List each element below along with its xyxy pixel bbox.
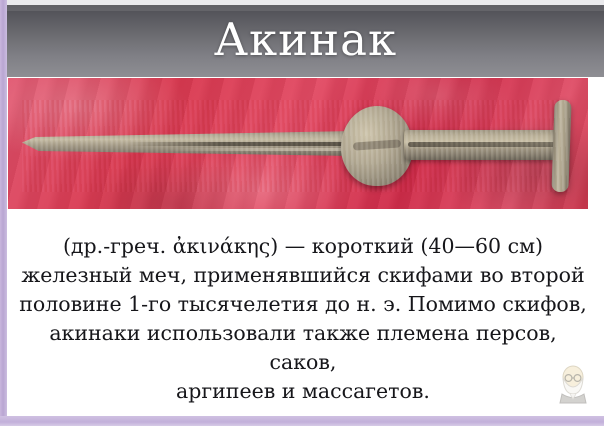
description-line-1: (др.-греч. ἀκινάκης) — короткий (40—60 с… [15, 232, 591, 261]
description-line-4: акинаки использовали также племена персо… [15, 319, 591, 377]
description-area: (др.-греч. ἀκινάκης) — короткий (40—60 с… [7, 218, 597, 416]
slide-header-banner: Акинак [7, 5, 604, 77]
description-line-2: железный меч, применявшийся скифами во в… [15, 261, 591, 290]
description-text: (др.-греч. ἀκινάκης) — короткий (40—60 с… [15, 232, 591, 406]
left-border-accent [0, 0, 7, 426]
header-highlight [7, 5, 604, 11]
page-title: Акинак [214, 17, 397, 66]
slide-akinakes: Акинак (др.-греч. ἀκινάκης) — короткий (… [0, 0, 604, 426]
description-line-3: половине 1-го тысячелетия до н. э. Помим… [15, 290, 591, 319]
sword-pommel [551, 100, 571, 193]
description-line-5: аргипеев и массагетов. [15, 377, 591, 406]
bottom-border-accent [0, 416, 604, 426]
sword-blade-ridge [128, 142, 360, 146]
sword-blade-highlight [168, 148, 360, 151]
bearded-man-avatar-icon [556, 364, 590, 404]
top-strip [0, 0, 604, 5]
akinakes-sword-illustration [8, 78, 588, 209]
artifact-photo [8, 78, 588, 209]
sword-grip-ridge [408, 142, 558, 147]
